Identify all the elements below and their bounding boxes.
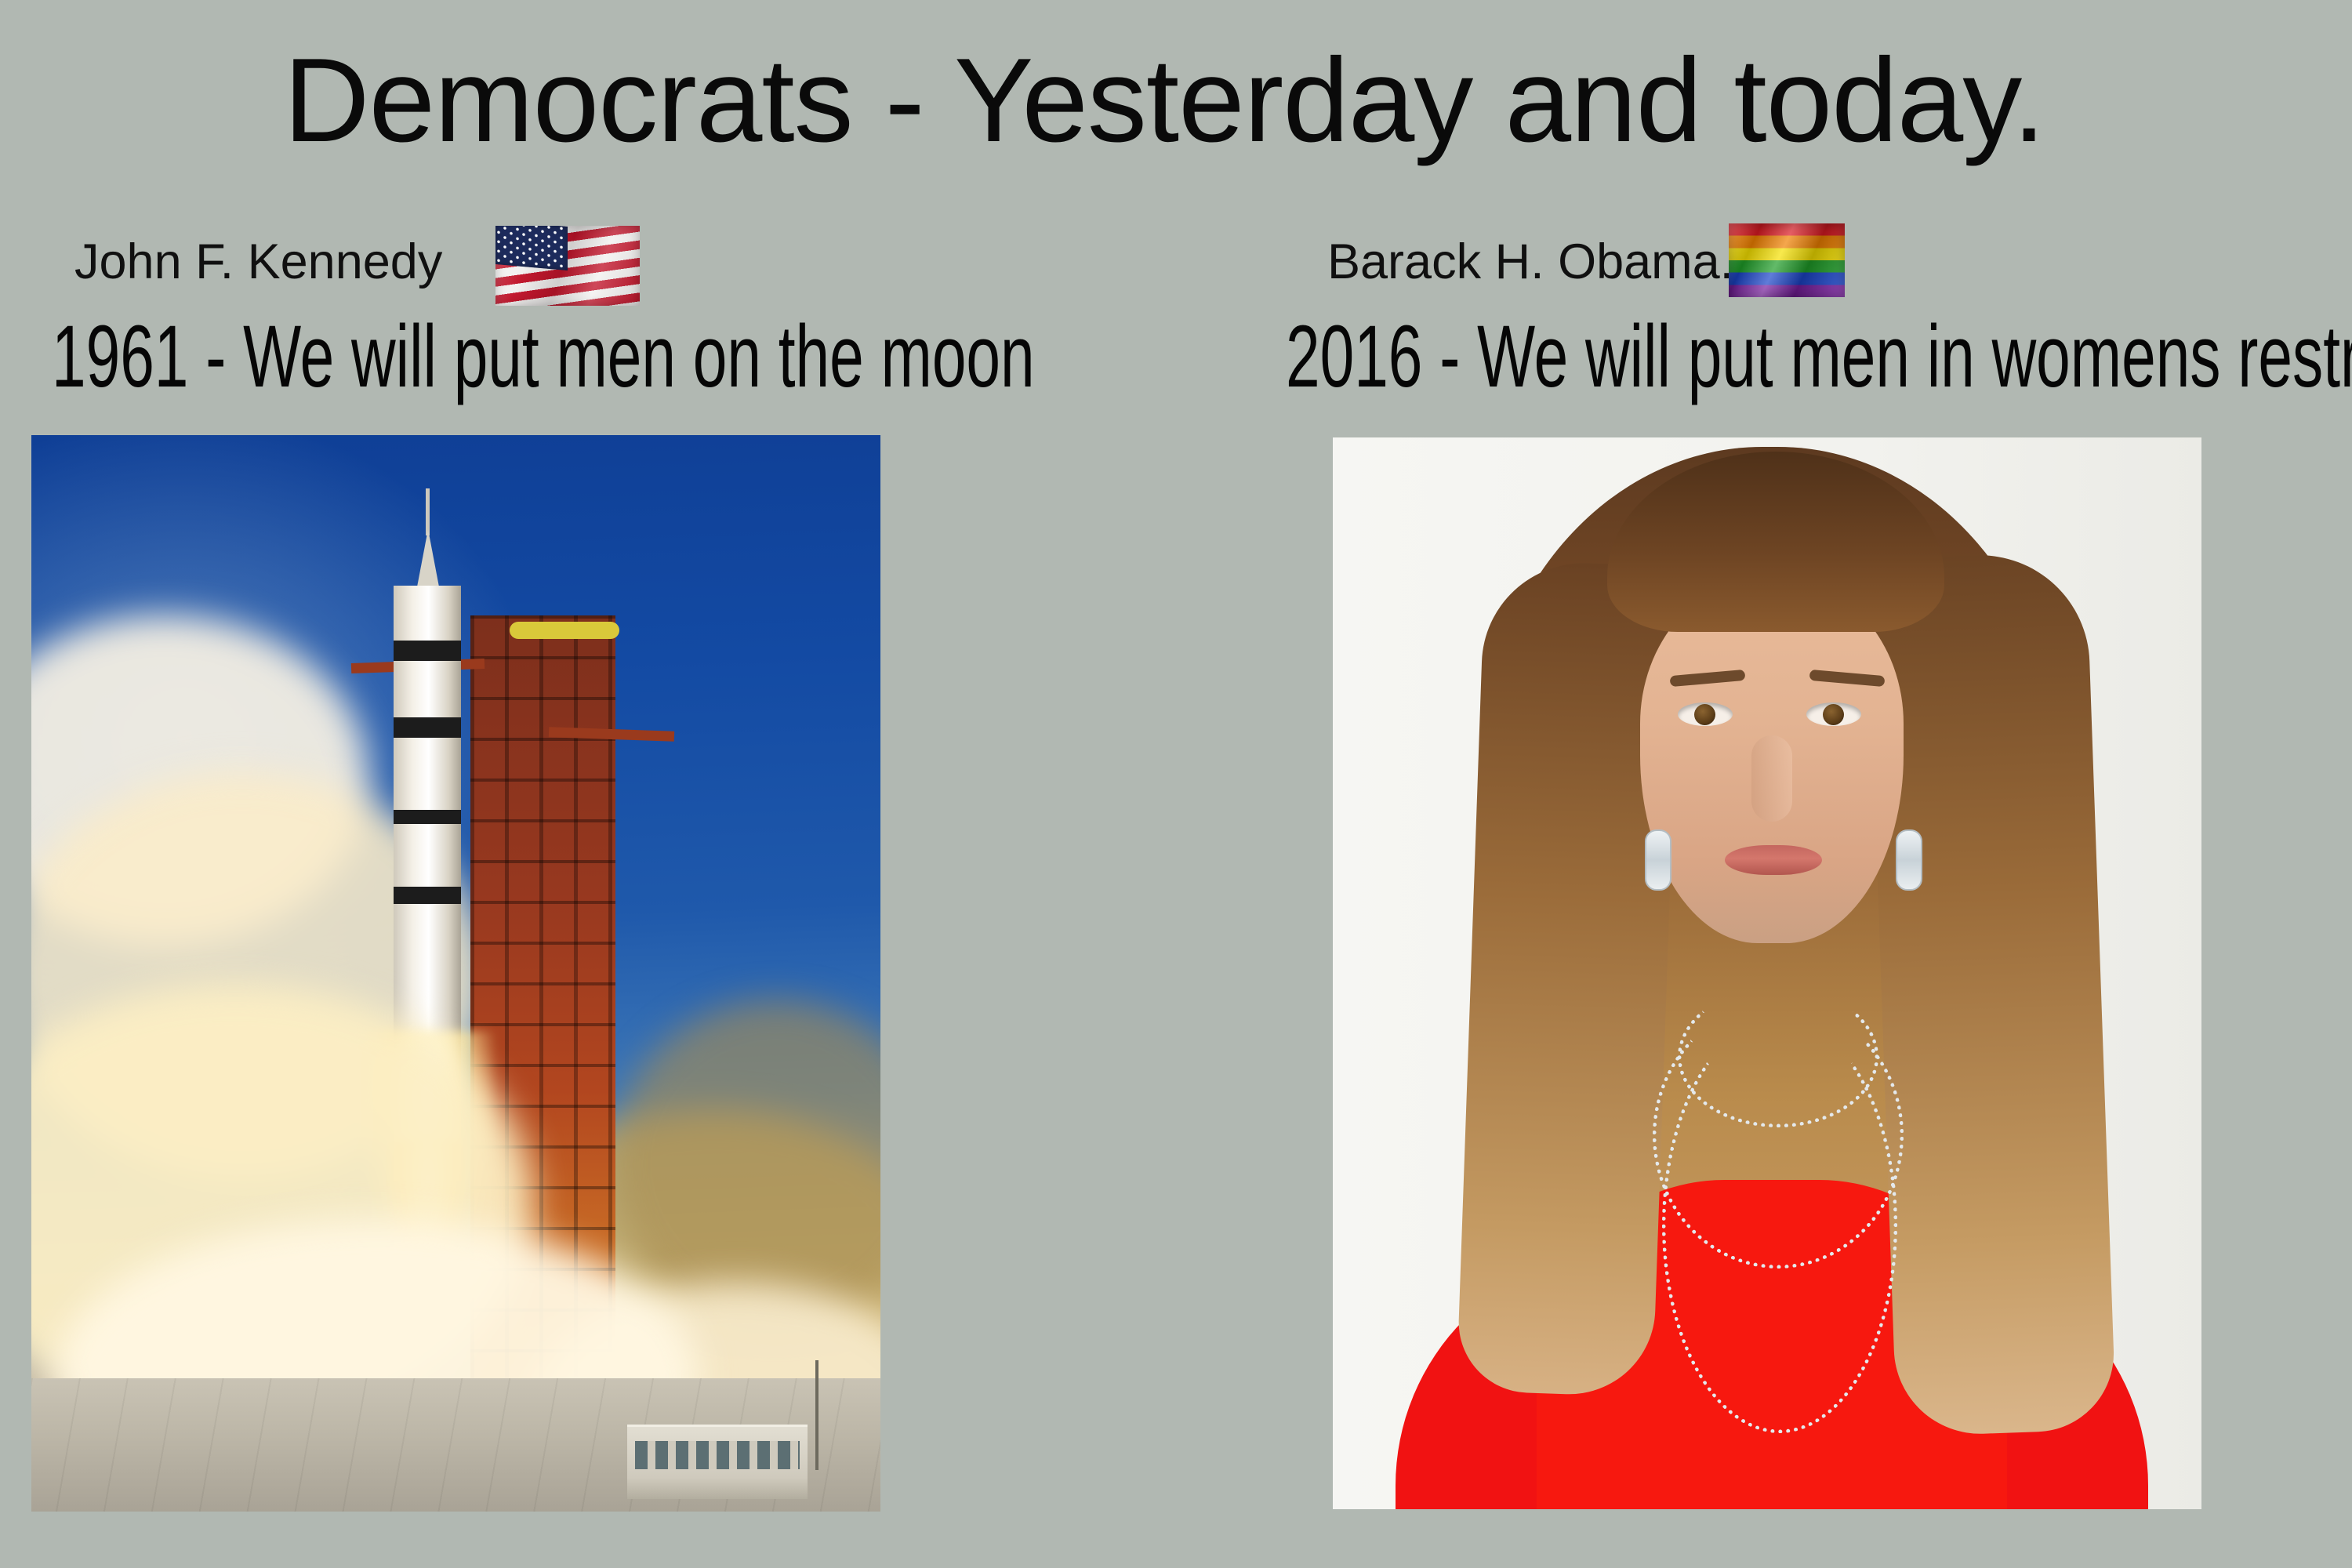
left-person-name: John F. Kennedy bbox=[74, 234, 442, 290]
left-panel-caption: John F. Kennedy 1961 - We will put men o… bbox=[31, 227, 894, 312]
page-title: Democrats - Yesterday and today. bbox=[0, 41, 2328, 160]
left-photo-rocket-launch bbox=[31, 435, 880, 1512]
lips bbox=[1725, 845, 1822, 875]
light-pole bbox=[815, 1360, 818, 1470]
right-panel-caption: Barack H. Obama. 2016 - We will put men … bbox=[1286, 227, 2305, 312]
left-name-row: John F. Kennedy bbox=[31, 227, 894, 312]
tower-crane bbox=[510, 622, 619, 639]
nose bbox=[1751, 735, 1792, 822]
pad-building bbox=[627, 1425, 808, 1499]
rocket-stripe bbox=[394, 641, 461, 661]
us-flag-icon bbox=[495, 226, 640, 306]
right-name-row: Barack H. Obama. bbox=[1286, 227, 2305, 312]
right-person-name: Barack H. Obama. bbox=[1327, 234, 1733, 290]
earring-left bbox=[1645, 829, 1671, 891]
launch-escape-tower bbox=[426, 488, 430, 535]
right-slogan: 2016 - We will put men in womens restroo… bbox=[1286, 306, 2352, 407]
right-photo-portrait bbox=[1333, 437, 2201, 1509]
rocket-stripe bbox=[394, 717, 461, 738]
left-slogan: 1961 - We will put men on the moon bbox=[52, 306, 1035, 407]
rainbow-pride-flag-icon bbox=[1729, 223, 1845, 297]
earring-right bbox=[1896, 829, 1922, 891]
iris-left bbox=[1694, 704, 1715, 725]
rocket-stripe bbox=[394, 810, 461, 824]
hair-strand-right bbox=[1867, 551, 2117, 1436]
rocket-stripe bbox=[394, 887, 461, 904]
necklace bbox=[1662, 1018, 1897, 1433]
iris-right bbox=[1823, 704, 1844, 725]
